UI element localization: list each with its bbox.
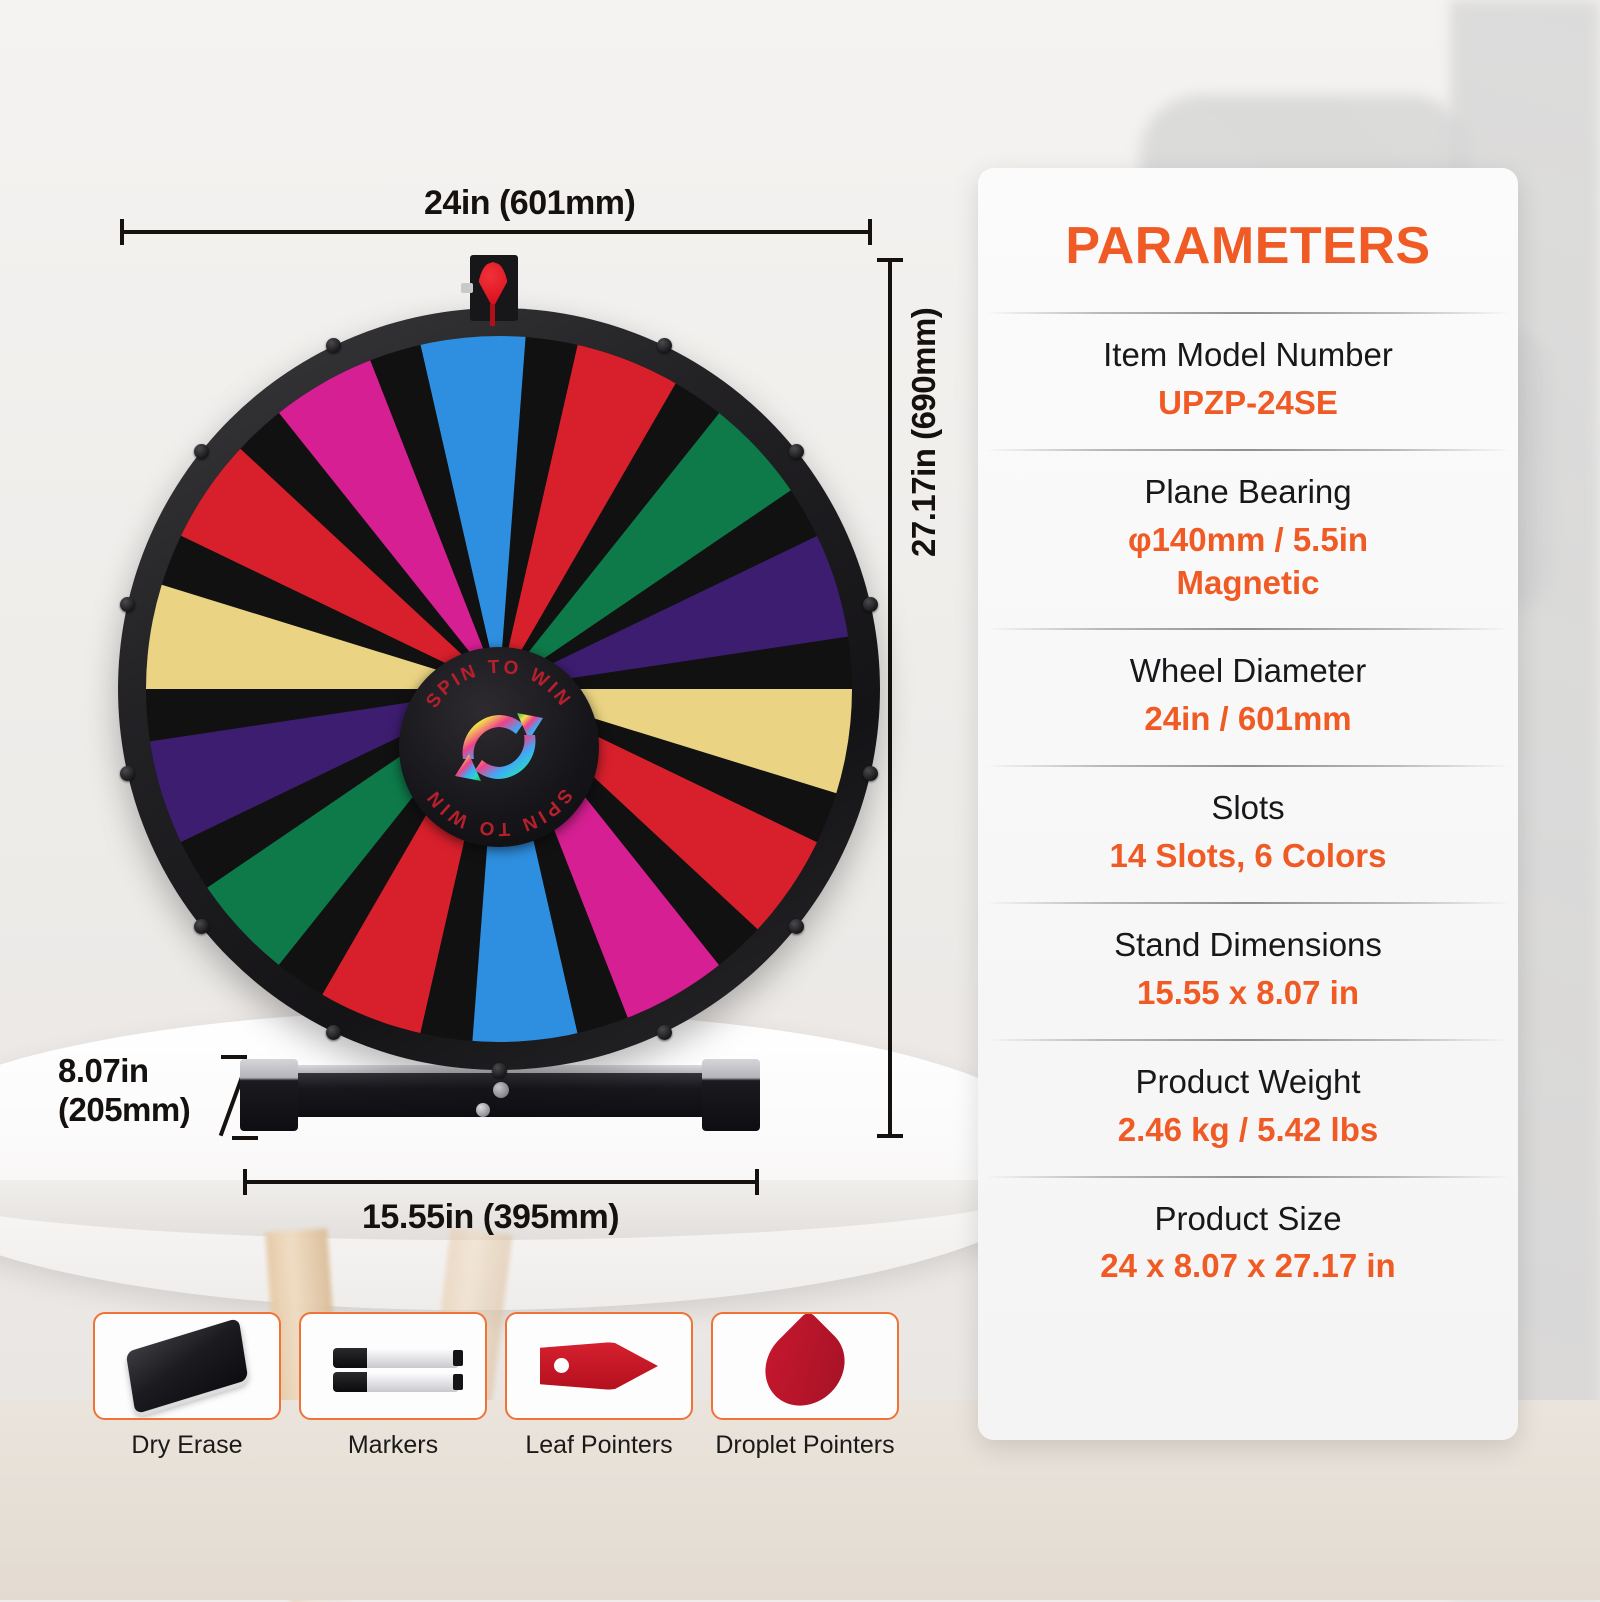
wheel-peg	[863, 766, 878, 781]
accessory-thumb	[299, 1312, 487, 1420]
top-dimension-cap-right	[868, 219, 872, 245]
wheel-peg	[657, 338, 672, 353]
stand-foot-right	[702, 1059, 760, 1131]
parameter-value: φ140mm / 5.5in	[996, 519, 1500, 562]
parameter-label: Stand Dimensions	[996, 924, 1500, 967]
wheel-peg	[657, 1025, 672, 1040]
parameter-row: Stand Dimensions15.55 x 8.07 in	[978, 902, 1518, 1039]
prize-wheel-assembly: SPIN TO WIN SPIN TO WIN	[118, 250, 908, 1180]
wheel-peg	[120, 766, 135, 781]
stand-foot-left	[240, 1059, 298, 1131]
parameter-label: Product Size	[996, 1198, 1500, 1241]
wheel-peg	[863, 597, 878, 612]
top-dimension-cap-left	[120, 219, 124, 245]
parameter-row: Slots14 Slots, 6 Colors	[978, 765, 1518, 902]
accessory-thumb	[505, 1312, 693, 1420]
parameter-row: Item Model NumberUPZP-24SE	[978, 312, 1518, 449]
parameter-value: UPZP-24SE	[996, 382, 1500, 425]
accessory-item-dry-erase[interactable]: Dry Erase	[92, 1312, 282, 1460]
parameter-label: Slots	[996, 787, 1500, 830]
right-dimension-label: 27.17in (690mm)	[905, 308, 943, 557]
accessory-label: Markers	[348, 1431, 438, 1460]
parameter-label: Wheel Diameter	[996, 650, 1500, 693]
wheel-peg	[194, 444, 209, 459]
accessory-item-droplet-pointers[interactable]: Droplet Pointers	[710, 1312, 900, 1460]
eraser-icon	[126, 1318, 249, 1414]
wheel-hub[interactable]: SPIN TO WIN SPIN TO WIN	[399, 647, 599, 847]
droplet-pointer-icon	[749, 1312, 861, 1420]
parameter-row: Product Size24 x 8.07 x 27.17 in	[978, 1176, 1518, 1313]
stand-screw	[476, 1103, 490, 1117]
wheel-peg	[326, 1025, 341, 1040]
wheel-peg	[194, 919, 209, 934]
accessory-list: Dry Erase Markers Leaf Pointers Droplet …	[92, 1312, 900, 1460]
hub-label-top: SPIN TO WIN	[422, 657, 576, 712]
accessory-label: Droplet Pointers	[715, 1431, 894, 1460]
parameter-value-extra: Magnetic	[996, 562, 1500, 605]
accessory-thumb	[93, 1312, 281, 1420]
parameters-panel: PARAMETERS Item Model NumberUPZP-24SEPla…	[978, 168, 1518, 1440]
accessory-item-leaf-pointers[interactable]: Leaf Pointers	[504, 1312, 694, 1460]
marker-pens-icon	[333, 1372, 459, 1392]
accessory-thumb	[711, 1312, 899, 1420]
parameters-title: PARAMETERS	[978, 168, 1518, 312]
top-dimension-label: 24in (601mm)	[424, 184, 635, 223]
pointer-stem	[490, 304, 495, 326]
leaf-pointer-icon	[540, 1342, 658, 1390]
parameter-value: 24in / 601mm	[996, 698, 1500, 741]
parameters-rows: Item Model NumberUPZP-24SEPlane Bearingφ…	[978, 312, 1518, 1312]
parameter-value: 14 Slots, 6 Colors	[996, 835, 1500, 878]
accessory-label: Leaf Pointers	[525, 1431, 672, 1460]
parameter-label: Item Model Number	[996, 334, 1500, 377]
hub-label-bottom: SPIN TO WIN	[422, 785, 576, 840]
stand-screw	[493, 1082, 509, 1098]
top-dimension-line	[120, 230, 872, 234]
parameter-label: Product Weight	[996, 1061, 1500, 1104]
parameter-row: Wheel Diameter24in / 601mm	[978, 628, 1518, 765]
recycle-arrows-icon	[455, 713, 543, 781]
parameter-value: 2.46 kg / 5.42 lbs	[996, 1109, 1500, 1152]
bottom-dimension-label: 15.55in (395mm)	[362, 1198, 619, 1237]
parameter-value: 15.55 x 8.07 in	[996, 972, 1500, 1015]
parameter-row: Product Weight2.46 kg / 5.42 lbs	[978, 1039, 1518, 1176]
accessory-label: Dry Erase	[131, 1431, 242, 1460]
wheel-peg	[120, 597, 135, 612]
bottom-dimension-line	[243, 1180, 759, 1184]
marker-pens-icon	[333, 1348, 459, 1368]
parameter-row: Plane Bearingφ140mm / 5.5inMagnetic	[978, 449, 1518, 629]
wheel-peg	[492, 1063, 507, 1078]
wheel-rim[interactable]: SPIN TO WIN SPIN TO WIN	[118, 308, 880, 1070]
accessory-item-markers[interactable]: Markers	[298, 1312, 488, 1460]
parameter-label: Plane Bearing	[996, 471, 1500, 514]
hub-graphic: SPIN TO WIN SPIN TO WIN	[399, 647, 599, 847]
parameter-value: 24 x 8.07 x 27.17 in	[996, 1245, 1500, 1288]
